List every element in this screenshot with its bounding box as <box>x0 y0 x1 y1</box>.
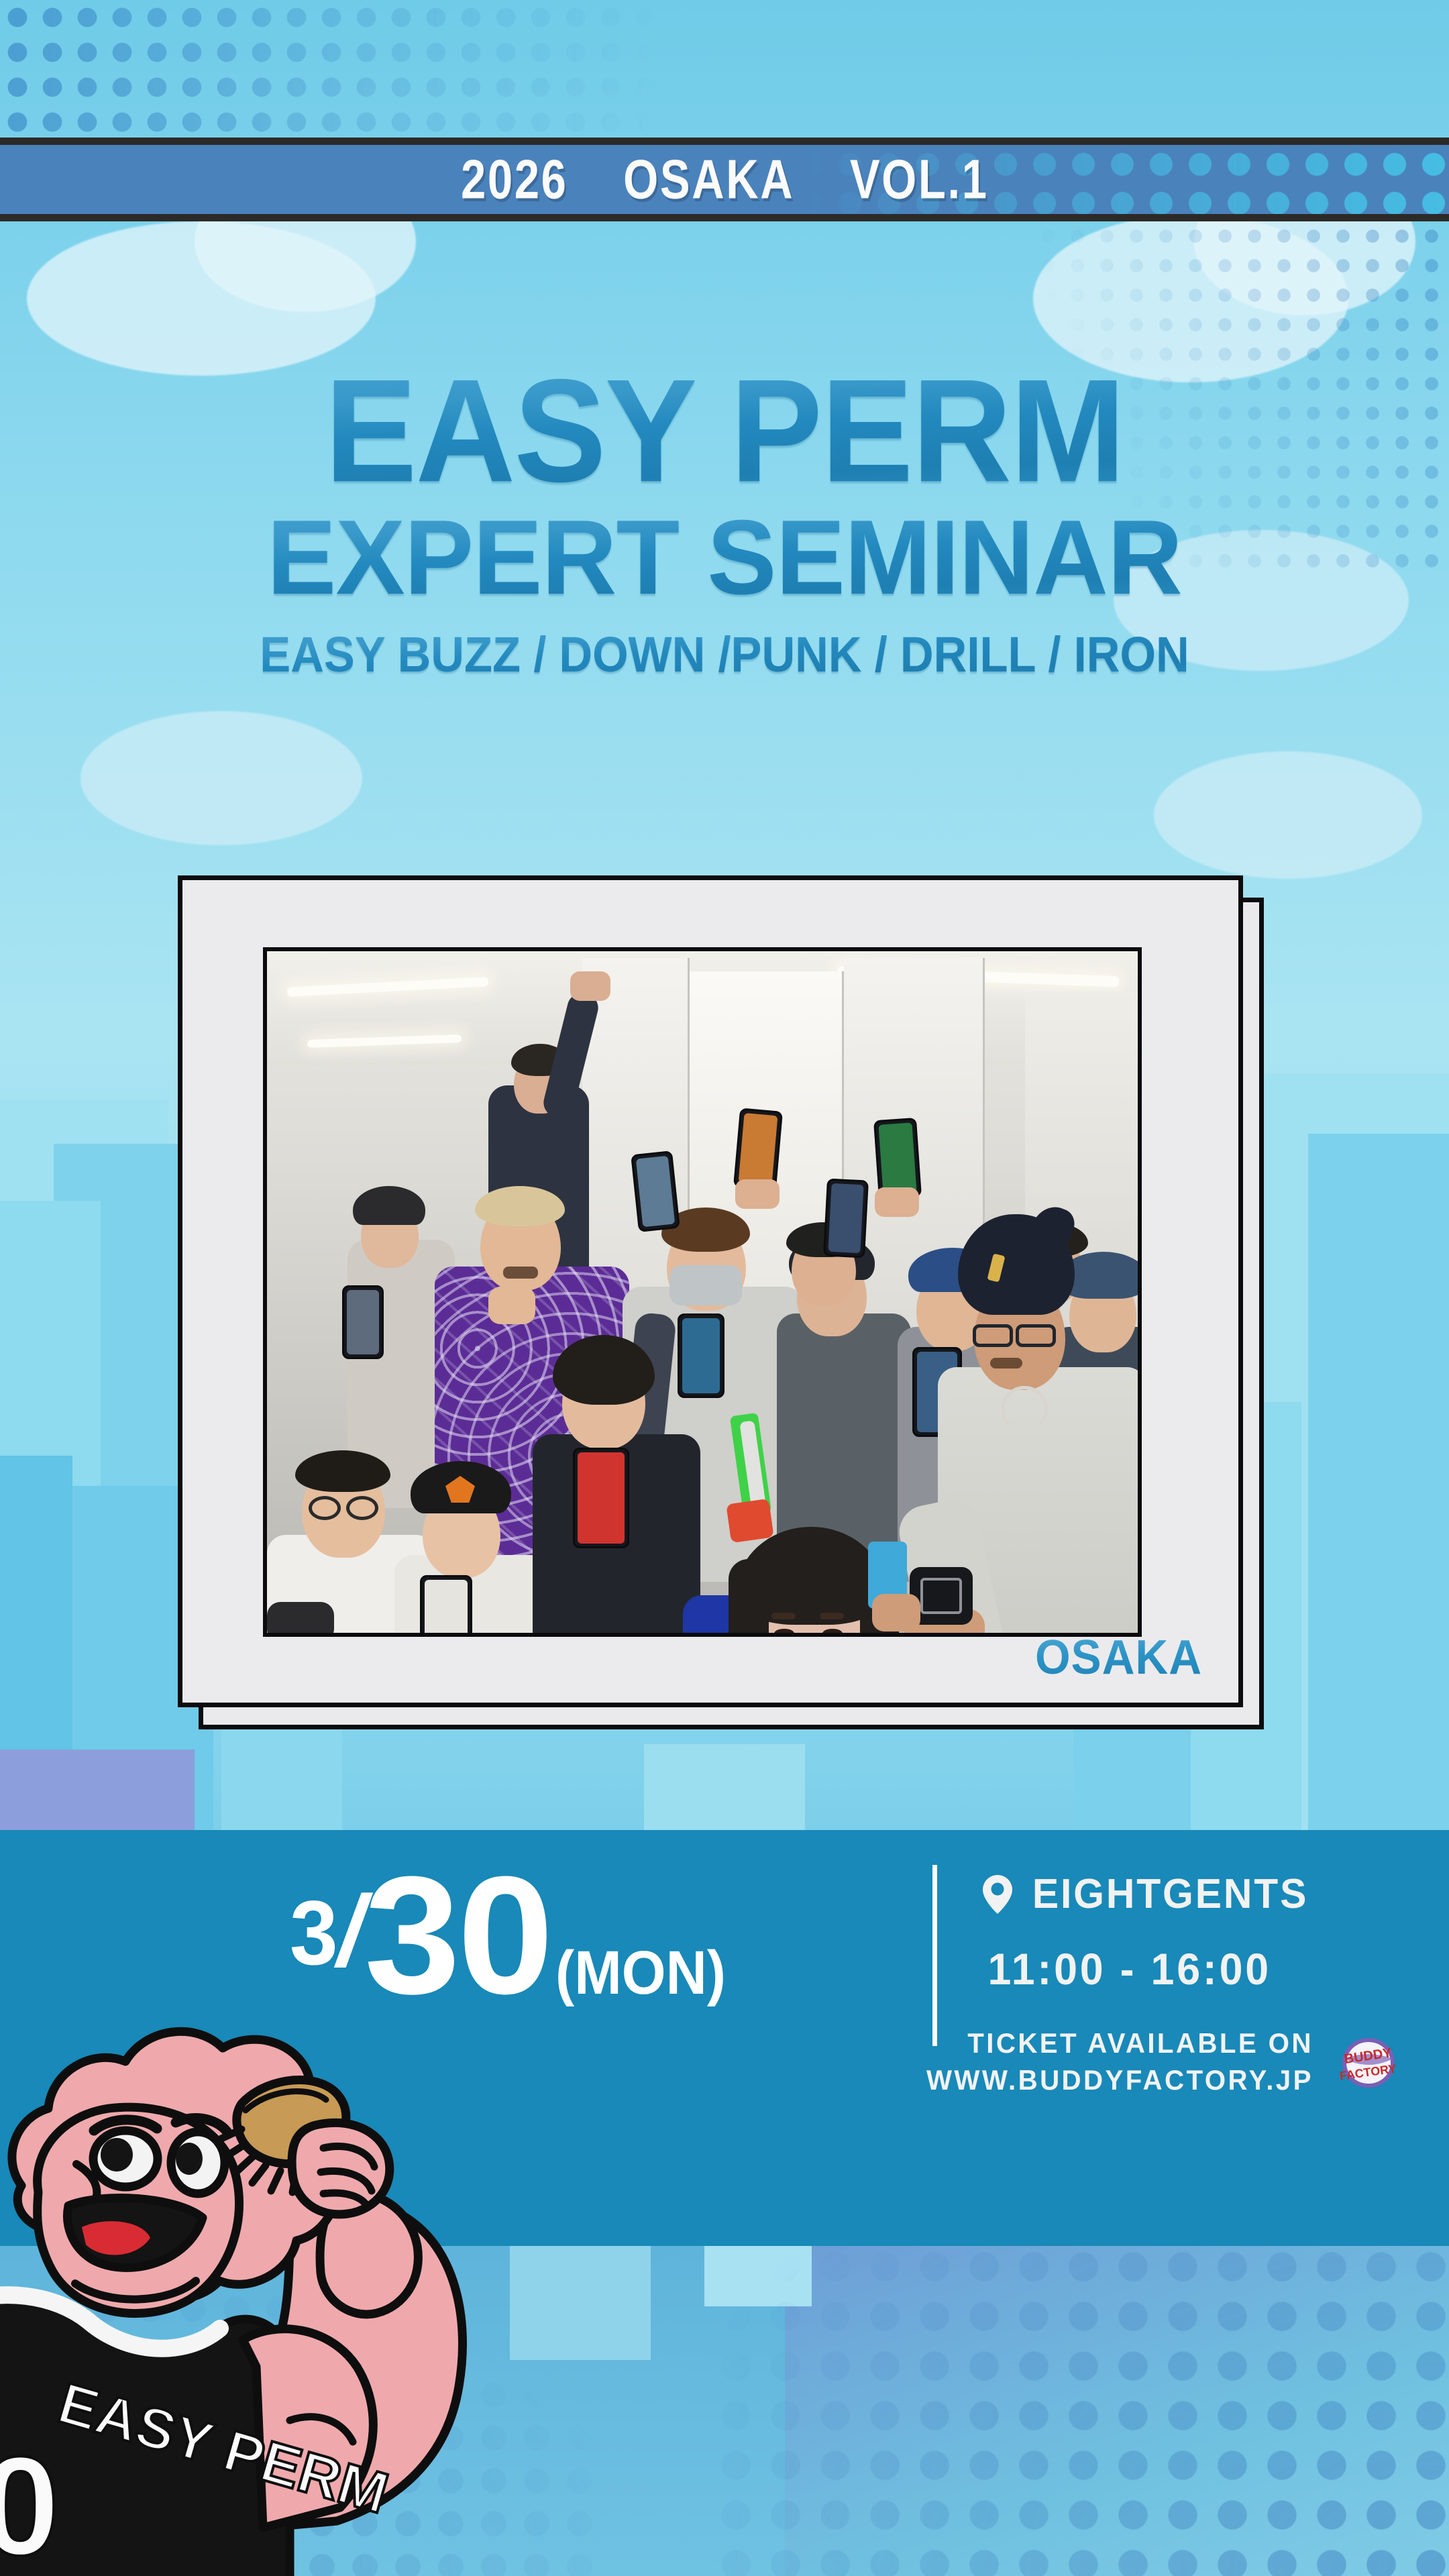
event-month: 3 <box>290 1887 338 1978</box>
title-block: EASY PERM EXPERT SEMINAR EASY BUZZ / DOW… <box>0 366 1449 683</box>
mannequin-eyebrow <box>771 1613 796 1619</box>
photo-hand <box>735 1179 780 1209</box>
vertical-divider <box>932 1865 937 2046</box>
ticket-website-url[interactable]: WWW.BUDDYFACTORY.JP <box>926 2061 1313 2098</box>
photo-mustache <box>503 1267 538 1279</box>
instructor-glasses <box>973 1324 1013 1347</box>
photo-frame: OSAKA <box>178 875 1243 1707</box>
instructor-necklace <box>1001 1386 1048 1433</box>
mascot-shirt-number: 0 <box>0 2427 60 2576</box>
building-silhouette <box>0 1750 195 1838</box>
photo-iron-handle <box>726 1499 773 1543</box>
photo-caption: OSAKA <box>1035 1630 1202 1685</box>
page-title-line2: EXPERT SEMINAR <box>0 504 1449 610</box>
mascot-pupil <box>101 2138 133 2171</box>
mannequin-hair-side <box>729 1559 769 1637</box>
venue-group: EIGHTGENTS 11:00 - 16:00 <box>979 1870 1316 1994</box>
page-subtitle: EASY BUZZ / DOWN /PUNK / DRILL / IRON <box>51 626 1399 683</box>
event-weekday: (MON) <box>555 1942 726 2004</box>
photo-eyeglasses <box>346 1496 378 1520</box>
mannequin-eye <box>774 1629 794 1637</box>
event-day: 30 <box>364 1860 551 2010</box>
cloud-shape <box>1154 751 1422 879</box>
mannequin-eye <box>822 1629 843 1637</box>
ticket-availability-label: TICKET AVAILABLE ON <box>926 2025 1313 2061</box>
location-pin-icon <box>979 1874 1016 1915</box>
easy-perm-strongman-mascot: EASY PERM 0 <box>0 1991 551 2576</box>
seminar-photo <box>263 947 1142 1637</box>
building-silhouette <box>644 1744 805 1838</box>
banner-city: OSAKA <box>623 147 794 211</box>
page-title-line1: EASY PERM <box>0 362 1449 500</box>
photo-face-mask <box>669 1265 742 1305</box>
venue-name: EIGHTGENTS <box>1032 1870 1308 1918</box>
photo-hand <box>875 1187 919 1217</box>
top-banner: 2026 OSAKA VOL.1 <box>0 138 1449 221</box>
mannequin-eyebrow <box>820 1613 844 1619</box>
instructor-mustache <box>990 1358 1022 1368</box>
instructor-hand <box>872 1594 920 1631</box>
cloud-shape <box>80 711 362 845</box>
event-time: 11:00 - 16:00 <box>988 1943 1307 1994</box>
ticket-info-group: TICKET AVAILABLE ON WWW.BUDDYFACTORY.JP … <box>918 2025 1401 2099</box>
photo-hand <box>488 1287 535 1324</box>
banner-year: 2026 <box>461 147 568 211</box>
banner-volume: VOL.1 <box>850 147 989 211</box>
photo-eyeglasses <box>309 1496 341 1520</box>
photo-hand <box>570 971 610 1001</box>
poster-canvas: 2026 OSAKA VOL.1 EASY PERM EXPERT SEMINA… <box>0 0 1449 2576</box>
instructor-glasses <box>1016 1324 1056 1347</box>
watch-face <box>920 1578 962 1614</box>
buddy-factory-logo[interactable]: BUDDY FACTORY <box>1336 2029 1401 2094</box>
photo-foreground-cap <box>267 1602 334 1637</box>
building-silhouette <box>1308 1134 1449 1838</box>
mascot-pupil <box>176 2143 203 2175</box>
